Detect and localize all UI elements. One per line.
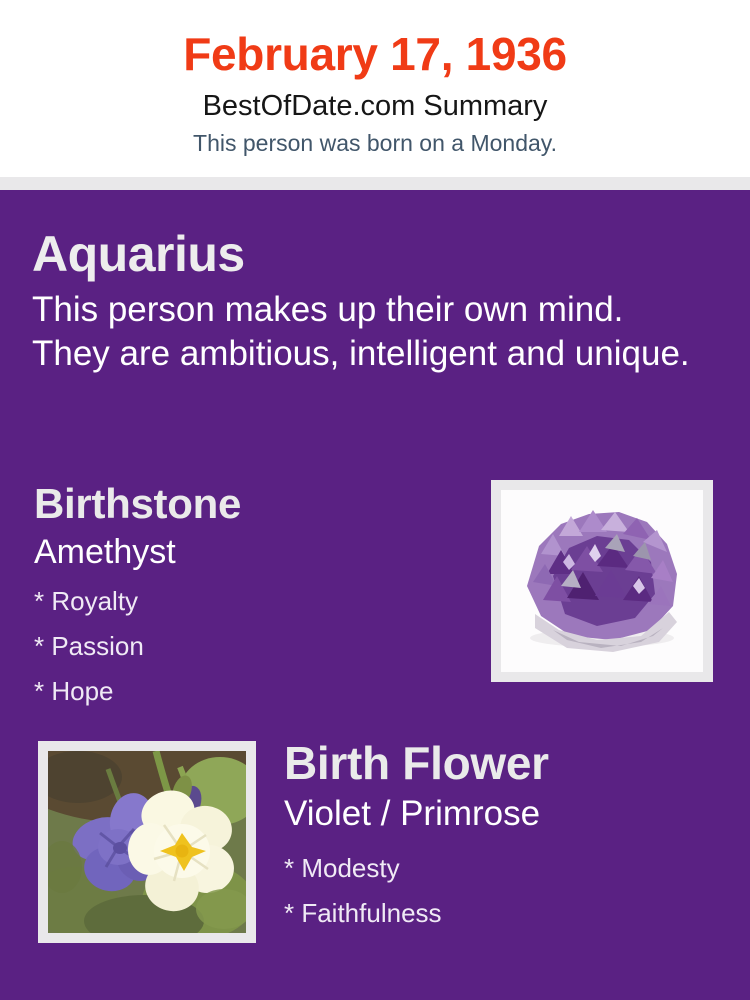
details-panel: Aquarius This person makes up their own …: [0, 190, 750, 1000]
birthstone-title: Birthstone: [34, 478, 464, 530]
birthstone-image: [501, 490, 703, 672]
list-item: * Hope: [34, 669, 464, 714]
header-divider: [0, 177, 750, 190]
list-item: * Passion: [34, 624, 464, 669]
summary-card: February 17, 1936 BestOfDate.com Summary…: [0, 0, 750, 1000]
site-name-subtitle: BestOfDate.com Summary: [0, 82, 750, 124]
birthflower-section: Birth Flower Violet / Primrose * Modesty…: [284, 735, 734, 936]
birthflower-image: [48, 751, 246, 933]
born-on-weekday-note: This person was born on a Monday.: [0, 124, 750, 158]
card-header: February 17, 1936 BestOfDate.com Summary…: [0, 0, 750, 177]
birthstone-name: Amethyst: [34, 530, 464, 573]
birthflower-trait-list: * Modesty * Faithfulness: [284, 836, 734, 936]
zodiac-description: This person makes up their own mind. The…: [32, 283, 692, 376]
zodiac-sign-title: Aquarius: [32, 225, 692, 283]
birthflower-title: Birth Flower: [284, 735, 734, 791]
violet-primrose-flower-icon: [48, 751, 246, 933]
birthstone-section: Birthstone Amethyst * Royalty * Passion …: [34, 478, 464, 714]
list-item: * Royalty: [34, 579, 464, 624]
amethyst-crystal-icon: [501, 490, 703, 672]
birthstone-trait-list: * Royalty * Passion * Hope: [34, 573, 464, 714]
list-item: * Modesty: [284, 846, 734, 891]
list-item: * Faithfulness: [284, 891, 734, 936]
birthflower-name: Violet / Primrose: [284, 791, 734, 836]
birthstone-image-frame: [491, 480, 713, 682]
page-title-date: February 17, 1936: [0, 0, 750, 82]
birthflower-image-frame: [38, 741, 256, 943]
zodiac-section: Aquarius This person makes up their own …: [32, 225, 692, 376]
